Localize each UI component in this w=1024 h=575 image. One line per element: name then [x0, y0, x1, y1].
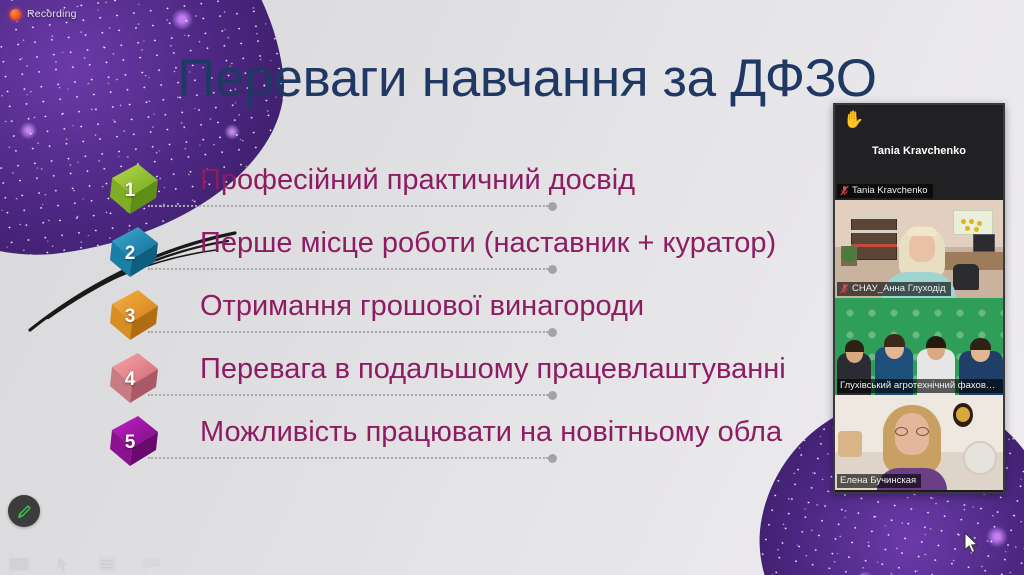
list-item-text: Можливість працювати на новітньому обла [200, 410, 782, 454]
slide-title: Переваги навчання за ДФЗО [0, 48, 1024, 109]
leader-line [148, 457, 548, 459]
video-tile-nametag: Tania Kravchenko [837, 184, 933, 198]
video-tile-name: Tania Kravchenko [852, 185, 928, 196]
recording-dot-icon [10, 9, 21, 20]
mic-muted-icon [840, 185, 849, 196]
annotate-pen-button[interactable] [8, 495, 40, 527]
video-conference-panel[interactable]: ✋ Tania Kravchenko Tania Kravchenko [833, 103, 1005, 494]
badge-3: 3 [108, 288, 162, 342]
badge-4: 4 [108, 351, 162, 405]
video-tile-3[interactable]: Глухівський агротехнічний фахови... [835, 298, 1003, 395]
recording-label: Recording [27, 8, 77, 20]
leader-line [148, 394, 548, 396]
taskbar [0, 555, 162, 573]
video-tile-nametag: Глухівський агротехнічний фахови... [837, 379, 1003, 393]
video-tile-2[interactable]: СНАУ_Анна Глуходід [835, 200, 1003, 298]
mic-muted-icon [840, 283, 849, 294]
badge-1: 1 [108, 162, 162, 216]
mouse-cursor [964, 532, 980, 556]
list-icon[interactable] [96, 555, 118, 573]
video-tile-1[interactable]: ✋ Tania Kravchenko Tania Kravchenko [835, 105, 1003, 200]
list-item-text: Перше місце роботи (наставник + куратор) [200, 221, 776, 265]
list-item-text: Отримання грошової винагороди [200, 284, 644, 328]
pen-icon [16, 503, 33, 520]
video-tile-name: СНАУ_Анна Глуходід [852, 283, 946, 294]
badge-5: 5 [108, 414, 162, 468]
leader-line [148, 205, 548, 207]
list-item-text: Перевага в подальшому працевлаштуванні [200, 347, 786, 391]
recording-indicator: Recording [10, 8, 77, 20]
video-tile-nametag: Елена Бучинская [837, 474, 921, 488]
video-tile-center-name: Tania Kravchenko [835, 145, 1003, 157]
list-item-text: Професійний практичний досвід [200, 158, 635, 202]
raised-hand-icon: ✋ [843, 111, 864, 128]
presentation-slide-screen: Recording Переваги навчання за ДФЗО 1 [0, 0, 1024, 575]
video-tile-name: Глухівський агротехнічний фахови... [840, 380, 998, 391]
video-tile-name: Елена Бучинская [840, 475, 916, 486]
badge-2: 2 [108, 225, 162, 279]
leader-line [148, 331, 548, 333]
leader-line [148, 268, 548, 270]
video-tile-nametag: СНАУ_Анна Глуходід [837, 282, 951, 296]
chat-icon[interactable] [140, 555, 162, 573]
pointer-icon[interactable] [52, 555, 74, 573]
video-tile-4[interactable]: Елена Бучинская [835, 395, 1003, 490]
window-icon[interactable] [8, 555, 30, 573]
